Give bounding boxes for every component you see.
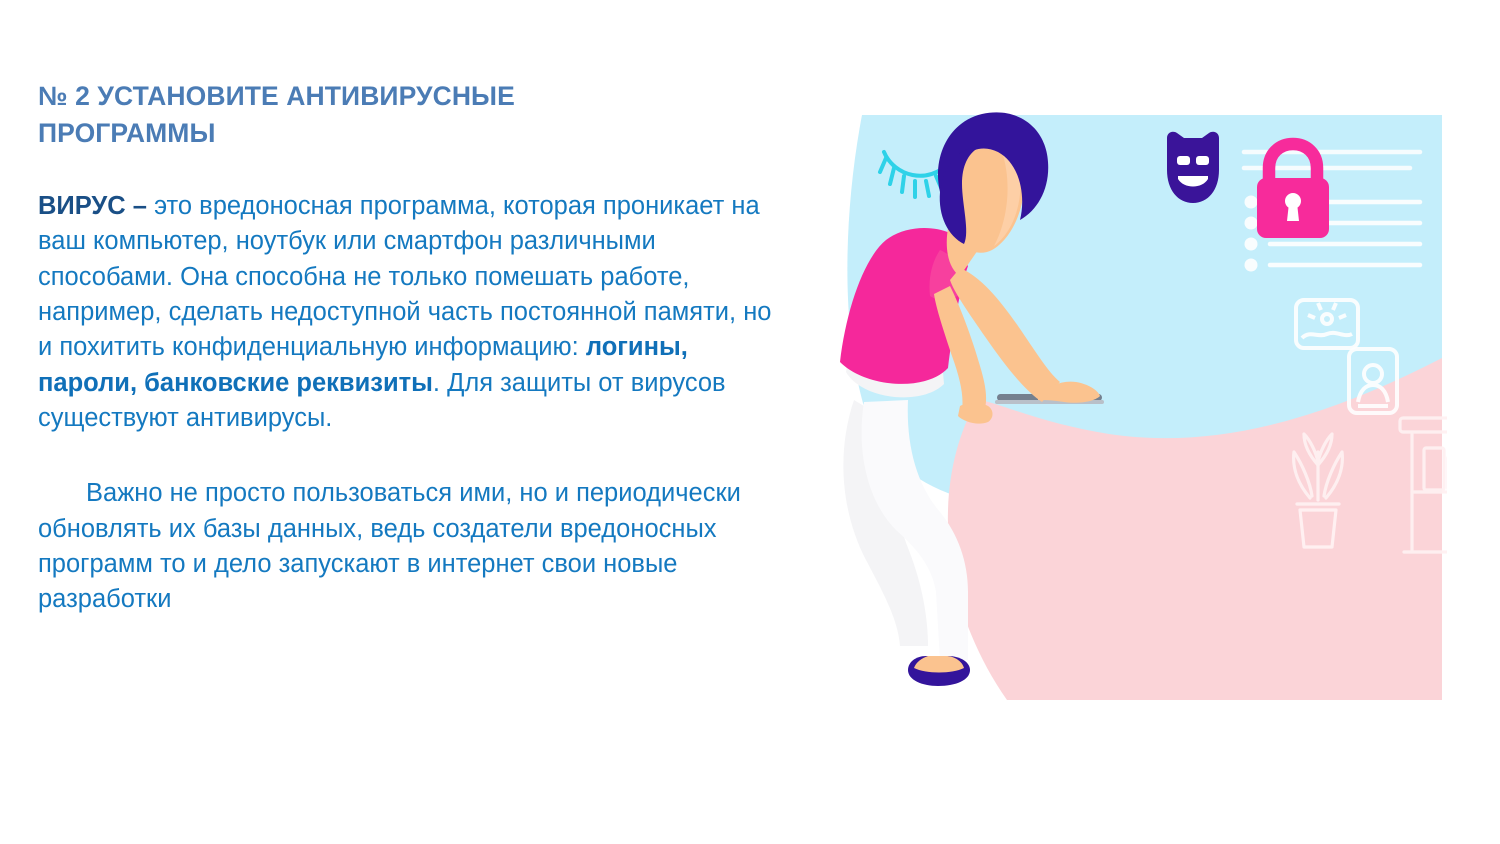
illustration-graphic (832, 100, 1447, 720)
text-column: № 2 УСТАНОВИТЕ АНТИВИРУСНЫЕ ПРОГРАММЫ ВИ… (38, 78, 798, 618)
virus-term-bold: ВИРУС (38, 192, 126, 220)
page-title: № 2 УСТАНОВИТЕ АНТИВИРУСНЫЕ ПРОГРАММЫ (38, 78, 638, 151)
antivirus-update-paragraph: Важно не просто пользоваться ими, но и п… (38, 476, 778, 617)
virus-definition-paragraph: ВИРУС – это вредоносная программа, котор… (38, 189, 778, 436)
theatre-mask-icon (1167, 132, 1219, 203)
slide-canvas: № 2 УСТАНОВИТЕ АНТИВИРУСНЫЕ ПРОГРАММЫ ВИ… (0, 0, 1500, 844)
virus-term-dash: – (126, 192, 154, 220)
woman-shoe (908, 656, 970, 686)
